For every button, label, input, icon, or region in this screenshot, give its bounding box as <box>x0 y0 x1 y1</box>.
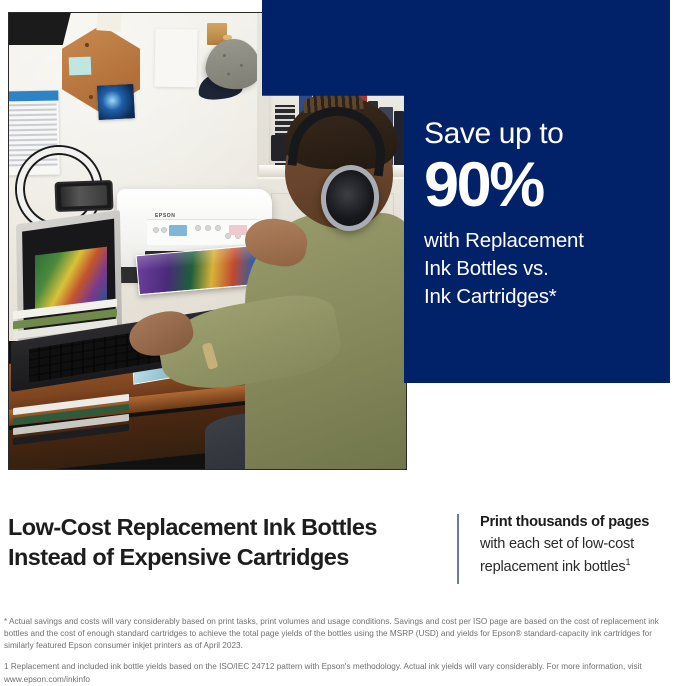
footnote-asterisk: * Actual savings and costs will vary con… <box>4 616 676 652</box>
primary-headline-line-1: Low-Cost Replacement Ink Bottles <box>8 514 377 540</box>
pushpin-icon <box>85 43 89 47</box>
footnote-one: 1 Replacement and included ink bottle yi… <box>4 661 676 685</box>
savings-subtext-line-1: with Replacement <box>424 227 664 255</box>
footnotes-section: * Actual savings and costs will vary con… <box>4 616 676 686</box>
savings-callout-content: Save up to 90% with Replacement Ink Bott… <box>424 118 664 310</box>
secondary-headline-line-2: replacement ink bottles1 <box>480 556 675 579</box>
savings-subtext-line-2: Ink Bottles vs. <box>424 255 664 283</box>
sticky-note <box>69 57 92 76</box>
primary-headline: Low-Cost Replacement Ink Bottles Instead… <box>8 512 448 572</box>
printer-button <box>153 227 159 233</box>
printer-brand-logo: EPSON <box>155 213 176 219</box>
primary-headline-line-2: Instead of Expensive Cartridges <box>8 544 349 570</box>
pinned-paper-note <box>96 12 121 32</box>
pushpin-icon <box>89 95 93 99</box>
monitor-corner <box>8 12 71 45</box>
smartphone-on-mount <box>54 180 113 212</box>
phone-screen <box>61 185 108 207</box>
primary-headline-text: Low-Cost Replacement Ink Bottles Instead… <box>8 512 448 572</box>
ink-tank-label <box>229 225 247 235</box>
printer-lcd-screen <box>169 225 187 236</box>
footnote-marker-1: 1 <box>625 557 630 567</box>
savings-subtext: with Replacement Ink Bottles vs. Ink Car… <box>424 227 664 310</box>
savings-percentage: 90% <box>424 154 664 217</box>
headline-divider <box>457 514 459 584</box>
printer-button <box>195 225 201 231</box>
wall-paper-sheet <box>154 29 197 88</box>
printer-button <box>205 225 211 231</box>
secondary-headline-line-2-text: replacement ink bottles <box>480 559 625 575</box>
savings-subtext-line-3: Ink Cartridges* <box>424 283 664 311</box>
secondary-headline-line-1: with each set of low-cost <box>480 534 675 556</box>
headline-row: Low-Cost Replacement Ink Bottles Instead… <box>0 512 679 592</box>
pinned-concert-photo <box>97 84 135 120</box>
hero-section: EPSON <box>0 0 679 478</box>
secondary-headline-title: Print thousands of pages <box>480 512 675 534</box>
secondary-headline: Print thousands of pages with each set o… <box>480 512 675 579</box>
printer-button <box>215 225 221 231</box>
printer-button <box>161 227 167 233</box>
savings-kicker: Save up to <box>424 118 664 150</box>
